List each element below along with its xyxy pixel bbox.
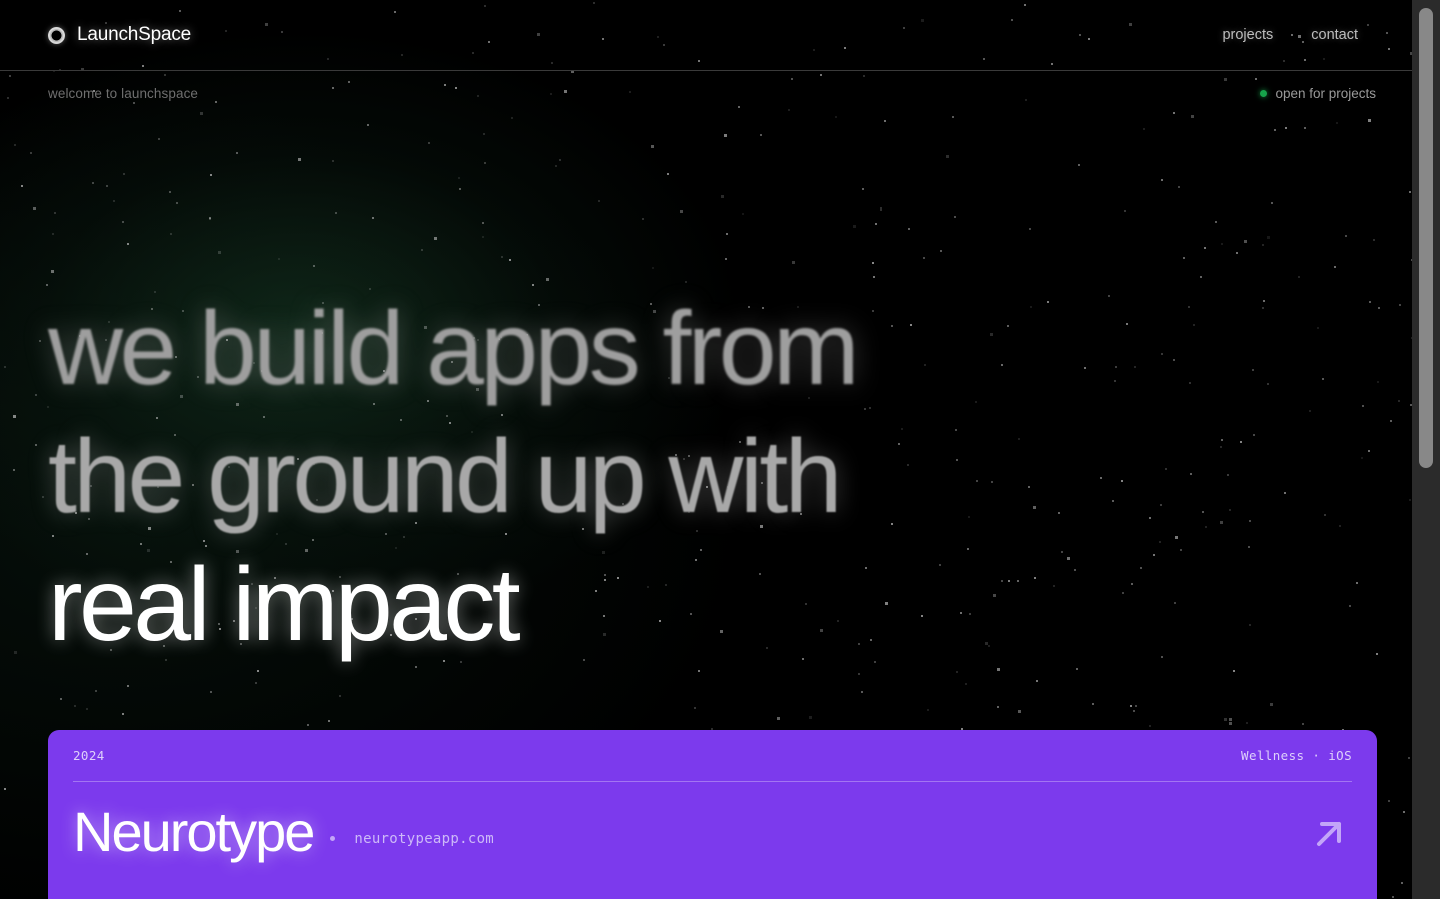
project-title: Neurotype: [73, 804, 313, 860]
project-card-neurotype[interactable]: 2024 Wellness · iOS Neurotype neurotypea…: [48, 730, 1377, 899]
hero-line-2: the ground up with: [48, 413, 1048, 541]
nav-link-projects[interactable]: projects: [1204, 27, 1291, 43]
scrollbar-thumb[interactable]: [1419, 8, 1433, 468]
status-indicator-dot: [1260, 90, 1267, 97]
status-label: open for projects: [1275, 86, 1376, 101]
project-year: 2024: [73, 748, 105, 763]
welcome-text: welcome to launchspace: [48, 86, 198, 101]
primary-nav: projects contact: [1204, 27, 1376, 43]
hero-headline: we build apps from the ground up with re…: [48, 285, 1048, 669]
arrow-up-right-icon[interactable]: [1306, 811, 1352, 857]
project-separator-dot: [330, 836, 335, 841]
availability-status: open for projects: [1260, 86, 1376, 101]
project-card-meta: 2024 Wellness · iOS: [73, 730, 1352, 782]
brand-name: LaunchSpace: [77, 24, 191, 46]
hero-line-1: we build apps from: [48, 285, 1048, 413]
nav-link-contact[interactable]: contact: [1293, 27, 1376, 43]
project-tags: Wellness · iOS: [1241, 748, 1352, 763]
top-navigation-bar: LaunchSpace projects contact: [0, 0, 1412, 71]
ring-logo-icon: [48, 27, 65, 44]
project-url[interactable]: neurotypeapp.com: [354, 831, 494, 847]
page-root: LaunchSpace projects contact welcome to …: [0, 0, 1440, 899]
scrollbar-track[interactable]: [1412, 0, 1440, 899]
hero-line-3: real impact: [48, 541, 1048, 669]
brand-logo[interactable]: LaunchSpace: [48, 24, 191, 46]
sub-header-bar: welcome to launchspace open for projects: [0, 71, 1412, 116]
project-card-body: Neurotype neurotypeapp.com: [73, 782, 1352, 860]
